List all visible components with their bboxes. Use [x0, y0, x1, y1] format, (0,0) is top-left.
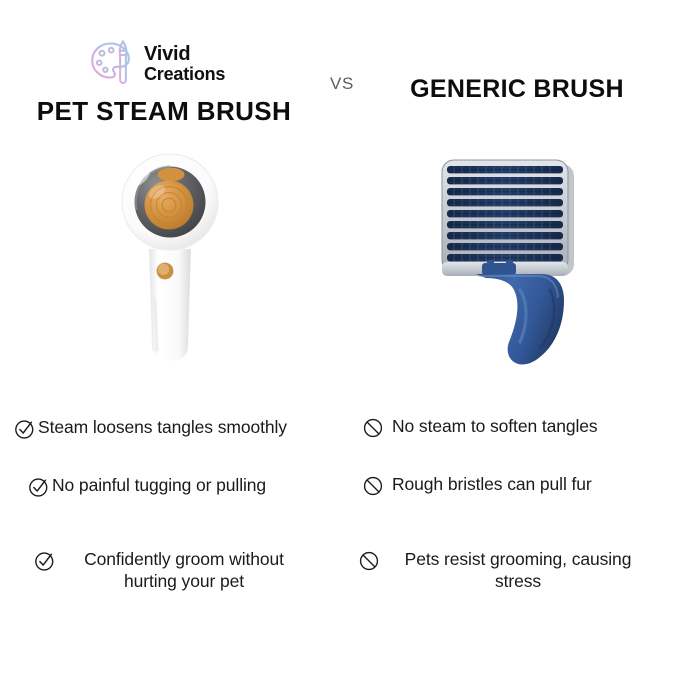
- list-item: Pets resist grooming, causing stress: [358, 548, 658, 593]
- list-item-label: Steam loosens tangles smoothly: [38, 416, 287, 438]
- bristle-rows: [447, 166, 563, 261]
- prohibition-icon: [358, 550, 380, 572]
- right-product-image: [360, 150, 660, 385]
- generic-slicker-brush-illustration: [424, 150, 596, 375]
- list-item: Confidently groom without hurting your p…: [34, 548, 314, 593]
- list-item: No steam to soften tangles: [362, 415, 679, 439]
- comparison-bullets: Steam loosens tangles smoothly No painfu…: [0, 396, 679, 646]
- list-item: Rough bristles can pull fur: [362, 473, 679, 497]
- check-circle-icon: [34, 550, 56, 572]
- left-product-title: PET STEAM BRUSH: [18, 96, 310, 127]
- header: Vivid Creations PET STEAM BRUSH VS GENER…: [0, 0, 679, 150]
- palette-brush-icon: [88, 38, 138, 88]
- prohibition-icon: [362, 475, 384, 497]
- right-product-title: GENERIC BRUSH: [372, 75, 662, 104]
- list-item-label: Rough bristles can pull fur: [392, 473, 592, 495]
- list-item-label: Pets resist grooming, causing stress: [382, 548, 654, 593]
- comparison-infographic: Vivid Creations PET STEAM BRUSH VS GENER…: [0, 0, 679, 679]
- prohibition-icon: [362, 417, 384, 439]
- brand-wordmark: Vivid Creations: [144, 44, 225, 83]
- brand-name-line1: Vivid: [144, 44, 225, 64]
- check-circle-icon: [14, 418, 36, 440]
- vs-separator-label: VS: [322, 74, 362, 94]
- list-item: No painful tugging or pulling: [28, 474, 358, 498]
- product-images: [0, 150, 679, 385]
- pet-steam-brush-illustration: [95, 150, 245, 375]
- left-product-image: [20, 150, 320, 385]
- list-item-label: No steam to soften tangles: [392, 415, 598, 437]
- brand-logo: Vivid Creations: [88, 36, 248, 90]
- list-item-label: Confidently groom without hurting your p…: [58, 548, 310, 593]
- brand-name-line2: Creations: [144, 65, 225, 83]
- list-item: Steam loosens tangles smoothly: [14, 416, 344, 440]
- check-circle-icon: [28, 476, 50, 498]
- list-item-label: No painful tugging or pulling: [52, 474, 266, 496]
